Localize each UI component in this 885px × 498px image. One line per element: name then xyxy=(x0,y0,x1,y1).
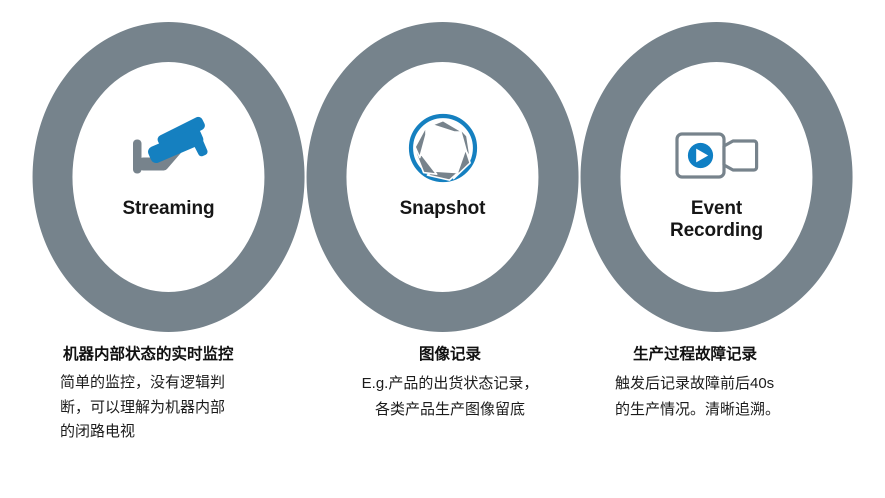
feature-node-event-recording[interactable]: Event Recording xyxy=(597,92,837,243)
caption-row: 机器内部状态的实时监控 简单的监控，没有逻辑判 断，可以理解为机器内部 的闭路电… xyxy=(0,345,885,498)
caption-streaming: 机器内部状态的实时监控 简单的监控，没有逻辑判 断，可以理解为机器内部 的闭路电… xyxy=(60,345,310,444)
node-label: Snapshot xyxy=(323,198,563,220)
feature-diagram: Streaming Snapshot xyxy=(0,0,885,345)
node-label: Streaming xyxy=(49,198,289,220)
caption-event-recording: 生产过程故障记录 触发后记录故障前后40s 的生产情况。清晰追溯。 xyxy=(615,345,865,422)
caption-body: 简单的监控，没有逻辑判 断，可以理解为机器内部 的闭路电视 xyxy=(60,371,310,444)
cctv-camera-icon xyxy=(49,92,289,184)
camera-aperture-icon xyxy=(323,92,563,184)
node-label: Event Recording xyxy=(597,198,837,243)
caption-snapshot: 图像记录 E.g.产品的出货状态记录， 各类产品生产图像留底 xyxy=(325,345,575,423)
caption-body: 触发后记录故障前后40s 的生产情况。清晰追溯。 xyxy=(615,371,865,422)
caption-title: 图像记录 xyxy=(325,345,575,364)
caption-body: E.g.产品的出货状态记录， 各类产品生产图像留底 xyxy=(325,371,575,423)
caption-title: 机器内部状态的实时监控 xyxy=(63,345,310,364)
caption-title: 生产过程故障记录 xyxy=(633,345,865,364)
feature-node-snapshot[interactable]: Snapshot xyxy=(323,92,563,220)
video-camera-play-icon xyxy=(597,92,837,184)
feature-node-streaming[interactable]: Streaming xyxy=(49,92,289,220)
